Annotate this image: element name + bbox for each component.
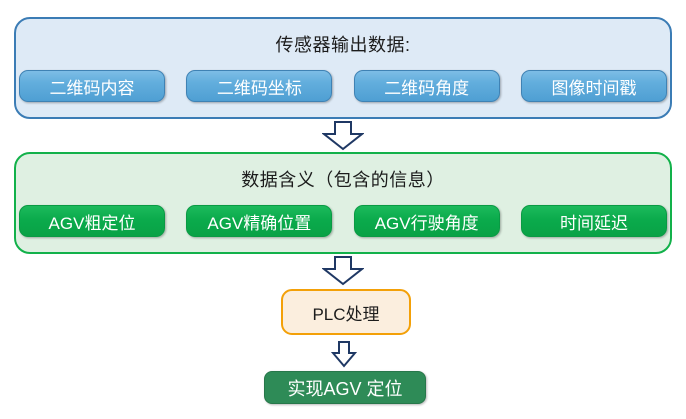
flowchart-diagram: 传感器输出数据: 二维码内容 二维码坐标 二维码角度 图像时间戳 数据含义（包含… [0, 0, 686, 419]
sensor-chip-qr-content[interactable]: 二维码内容 [19, 70, 165, 102]
data-meaning-panel: 数据含义（包含的信息） AGV粗定位 AGV精确位置 AGV行驶角度 时间延迟 [14, 152, 672, 254]
meaning-chip-row: AGV粗定位 AGV精确位置 AGV行驶角度 时间延迟 [19, 204, 667, 238]
sensor-chip-label: 二维码内容 [50, 74, 135, 99]
meaning-chip-label: 时间延迟 [560, 209, 628, 234]
sensor-chip-label: 二维码坐标 [217, 74, 302, 99]
sensor-chip-label: 二维码角度 [384, 74, 469, 99]
meaning-chip-label: AGV行驶角度 [375, 209, 479, 234]
arrow-down-plc-to-result-icon [331, 341, 357, 373]
sensor-output-title: 传感器输出数据: [16, 31, 670, 57]
arrow-down-sensor-to-meaning-icon [322, 121, 364, 156]
meaning-chip-agv-coarse-position[interactable]: AGV粗定位 [19, 205, 165, 237]
sensor-chip-image-timestamp[interactable]: 图像时间戳 [521, 70, 667, 102]
sensor-chip-label: 图像时间戳 [551, 74, 636, 99]
plc-process-label: PLC处理 [312, 300, 379, 325]
meaning-chip-agv-precise-position[interactable]: AGV精确位置 [186, 205, 332, 237]
sensor-output-panel: 传感器输出数据: 二维码内容 二维码坐标 二维码角度 图像时间戳 [14, 17, 672, 119]
result-box-agv-localization[interactable]: 实现AGV 定位 [264, 371, 426, 404]
data-meaning-title: 数据含义（包含的信息） [16, 166, 670, 192]
meaning-chip-time-delay[interactable]: 时间延迟 [521, 205, 667, 237]
arrow-down-meaning-to-plc-icon [322, 256, 364, 291]
sensor-chip-qr-angle[interactable]: 二维码角度 [354, 70, 500, 102]
meaning-chip-agv-heading-angle[interactable]: AGV行驶角度 [354, 205, 500, 237]
meaning-chip-label: AGV精确位置 [207, 209, 311, 234]
sensor-chip-qr-coordinate[interactable]: 二维码坐标 [186, 70, 332, 102]
result-label: 实现AGV 定位 [287, 375, 402, 401]
meaning-chip-label: AGV粗定位 [49, 209, 136, 234]
sensor-chip-row: 二维码内容 二维码坐标 二维码角度 图像时间戳 [19, 69, 667, 103]
plc-process-box[interactable]: PLC处理 [281, 289, 411, 335]
